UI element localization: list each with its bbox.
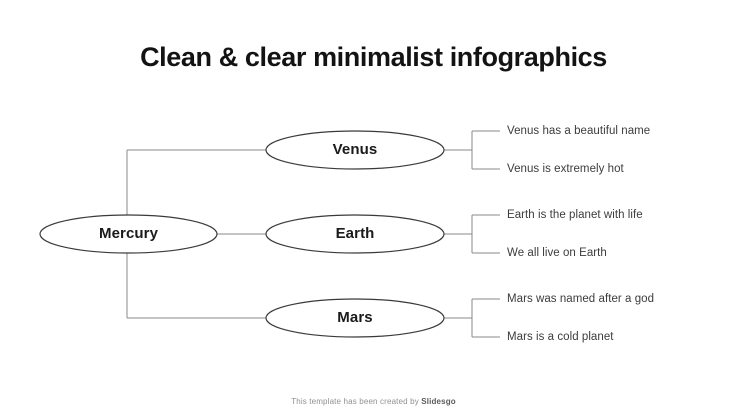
footer-credit: This template has been created by Slides… [0, 396, 747, 408]
bracket-venus [443, 131, 500, 169]
bracket-mars [443, 299, 500, 337]
infographic-slide: Clean & clear minimalist infographics [0, 0, 747, 420]
node-ellipse-mars[interactable] [266, 299, 444, 337]
node-ellipse-mercury[interactable] [40, 215, 217, 253]
node-ellipse-earth[interactable] [266, 215, 444, 253]
footer-brand-link[interactable]: Slidesgo [421, 397, 456, 406]
bracket-earth [443, 215, 500, 253]
footer-credit-text: This template has been created by [291, 397, 421, 406]
node-ellipse-venus[interactable] [266, 131, 444, 169]
leaf-item-earth-2[interactable]: We all live on Earth [507, 245, 607, 261]
leaf-item-mars-1[interactable]: Mars was named after a god [507, 291, 654, 307]
leaf-item-venus-2[interactable]: Venus is extremely hot [507, 161, 624, 177]
leaf-brackets [443, 131, 500, 337]
leaf-item-venus-1[interactable]: Venus has a beautiful name [507, 123, 650, 139]
leaf-item-mars-2[interactable]: Mars is a cold planet [507, 329, 614, 345]
leaf-item-earth-1[interactable]: Earth is the planet with life [507, 207, 643, 223]
